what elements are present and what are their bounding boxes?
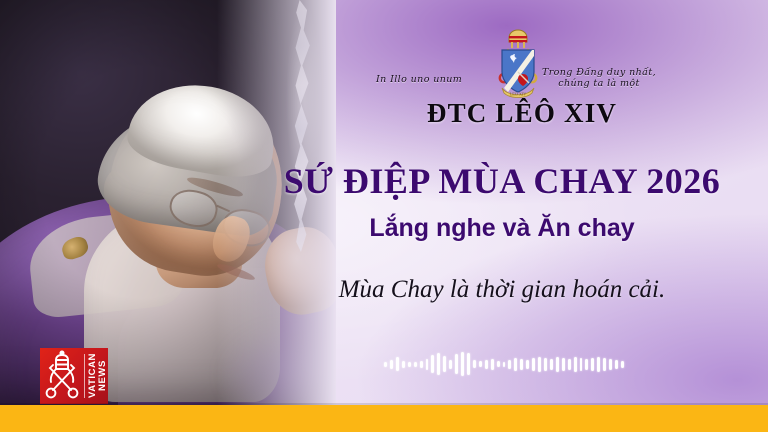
- waveform-bar: [609, 359, 612, 370]
- waveform-bar: [467, 353, 470, 375]
- waveform-bar: [449, 360, 452, 369]
- vatican-news-logo[interactable]: VATICAN NEWS: [40, 348, 108, 404]
- waveform-bar: [514, 358, 517, 371]
- waveform-bar: [414, 362, 417, 367]
- page-title: SỨ ĐIỆP MÙA CHAY 2026: [252, 160, 752, 202]
- waveform-bar: [431, 355, 434, 373]
- audio-waveform-icon[interactable]: [384, 350, 624, 378]
- header-crest-block: In Illo uno unum Trong Đấng duy nhất, ch…: [372, 24, 672, 120]
- waveform-bar: [491, 359, 494, 370]
- waveform-bar: [603, 358, 606, 371]
- waveform-bar: [396, 357, 399, 371]
- waveform-bar: [556, 357, 559, 372]
- logo-divider: [84, 354, 85, 398]
- waveform-bar: [473, 360, 476, 368]
- waveform-bar: [479, 361, 482, 367]
- vatican-news-wordmark: VATICAN NEWS: [88, 353, 108, 398]
- motto-vietnamese-line1: Trong Đấng duy nhất,: [542, 67, 656, 78]
- papal-coat-of-arms-icon: LEO XIV: [482, 26, 554, 102]
- waveform-bar: [420, 361, 423, 368]
- waveform-bar: [408, 362, 411, 367]
- waveform-bar: [520, 359, 523, 370]
- pope-with-crozier-photo: [0, 0, 336, 408]
- waveform-bar: [443, 356, 446, 372]
- waveform-bar: [580, 358, 583, 371]
- page-quote: Mùa Chay là thời gian hoán cải.: [252, 276, 752, 304]
- waveform-bar: [485, 360, 488, 369]
- waveform-bar: [426, 359, 429, 370]
- waveform-bar: [526, 360, 529, 369]
- waveform-bar: [550, 359, 553, 370]
- waveform-bar: [562, 358, 565, 371]
- waveform-bar: [615, 360, 618, 369]
- waveform-bar: [508, 360, 511, 369]
- waveform-bar: [591, 358, 594, 371]
- waveform-bar: [390, 360, 393, 369]
- mouth: [216, 261, 256, 282]
- waveform-bar: [585, 359, 588, 370]
- waveform-bar: [503, 362, 506, 367]
- waveform-bar: [538, 357, 541, 372]
- waveform-bar: [384, 362, 387, 367]
- waveform-bar: [621, 361, 624, 368]
- waveform-bar: [461, 352, 464, 376]
- waveform-bar: [455, 354, 458, 374]
- bottom-gold-bar: [0, 405, 768, 432]
- photo-vignette: [0, 0, 336, 408]
- logo-word-bottom: NEWS: [98, 353, 108, 398]
- waveform-bar: [544, 358, 547, 371]
- foreground-blur: [226, 330, 336, 408]
- waveform-bar: [497, 361, 500, 367]
- waveform-bar: [574, 357, 577, 372]
- lenten-message-banner: In Illo uno unum Trong Đấng duy nhất, ch…: [0, 0, 768, 432]
- page-subtitle: Lắng nghe và Ăn chay: [252, 214, 752, 243]
- waveform-bar: [568, 359, 571, 370]
- waveform-bar: [597, 357, 600, 372]
- vatican-keys-tiara-icon: [40, 349, 84, 403]
- motto-latin: In Illo uno unum: [376, 74, 462, 85]
- pope-name: ĐTC LÊÔ XIV: [372, 98, 672, 129]
- svg-text:LEO XIV: LEO XIV: [510, 92, 527, 97]
- lens-bridge: [216, 205, 230, 213]
- waveform-bar: [402, 361, 405, 368]
- waveform-bar: [532, 358, 535, 371]
- waveform-bar: [437, 353, 440, 375]
